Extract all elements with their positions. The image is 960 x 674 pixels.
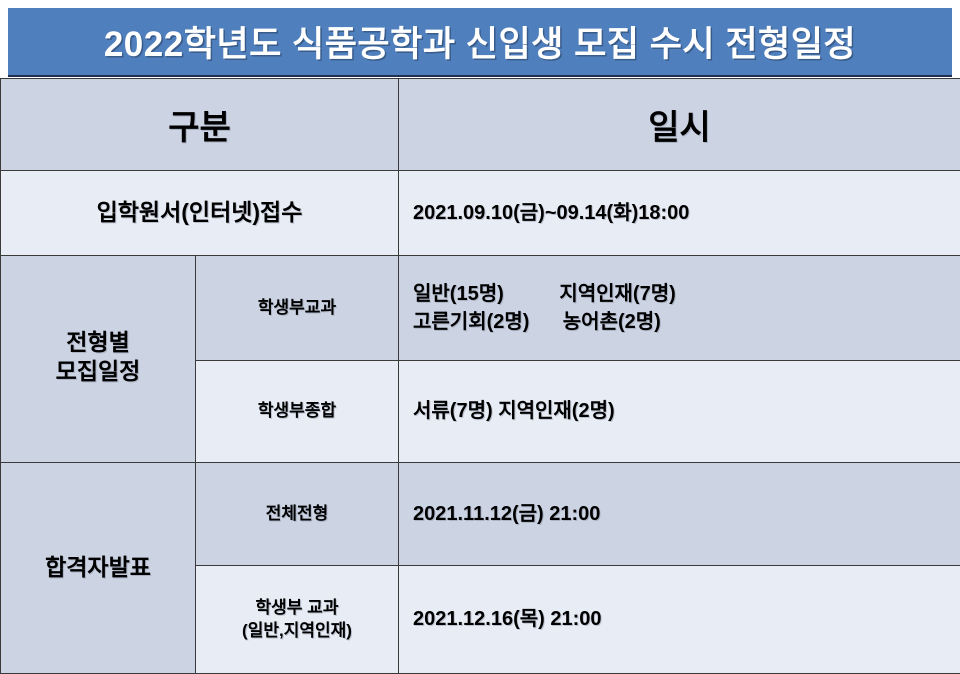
row-value-school-record-comprehensive: 서류(7명) 지역인재(2명) [399, 361, 960, 463]
value-line-2: 고른기회(2명) 농어촌(2명) [413, 308, 661, 336]
category-label-line2: 모집일정 [56, 357, 141, 386]
value-line: 2021.11.12(금) 21:00 [413, 501, 600, 528]
value-line: 2021.12.16(목) 21:00 [413, 606, 602, 633]
value-line: 2021.09.10(금)~09.14(화)18:00 [413, 200, 689, 227]
header-label-category: 구분 [168, 100, 231, 149]
row-subcategory-all-types: 전체전형 [196, 463, 399, 566]
header-cell-datetime: 일시 [399, 79, 960, 171]
poster-title-banner: 2022학년도 식품공학과 신입생 모집 수시 전형일정 [8, 8, 952, 77]
table-header-row: 구분 일시 [1, 79, 960, 171]
table-row: 전형별 모집일정 학생부교과 일반(15명) 지역인재(7명) 고른기회(2명)… [1, 256, 960, 361]
header-cell-category: 구분 [1, 79, 399, 171]
value-line: 서류(7명) 지역인재(2명) [413, 398, 615, 425]
subcategory-label: 전체전형 [266, 503, 329, 525]
subcategory-label: 학생부종합 [258, 400, 336, 422]
row-category-recruit-schedule: 전형별 모집일정 [1, 256, 196, 463]
value-line-1: 일반(15명) 지역인재(7명) [413, 280, 676, 308]
header-label-datetime: 일시 [648, 100, 711, 149]
subcategory-label: 학생부교과 [258, 297, 336, 319]
subcategory-label-line2: (일반,지역인재) [242, 620, 352, 642]
row-subcategory-school-record-subject-general: 학생부 교과 (일반,지역인재) [196, 566, 399, 674]
row-value-school-record-subject-general: 2021.12.16(목) 21:00 [399, 566, 960, 674]
row-category-result-announcement: 합격자발표 [1, 463, 196, 674]
table-row: 합격자발표 전체전형 2021.11.12(금) 21:00 [1, 463, 960, 566]
row-subcategory-school-record-subject: 학생부교과 [196, 256, 399, 361]
row-value-all-types: 2021.11.12(금) 21:00 [399, 463, 960, 566]
table-row: 입학원서(인터넷)접수 2021.09.10(금)~09.14(화)18:00 [1, 171, 960, 256]
admission-schedule-table: 구분 일시 입학원서(인터넷)접수 2021 [0, 78, 960, 674]
row-value-school-record-subject: 일반(15명) 지역인재(7명) 고른기회(2명) 농어촌(2명) [399, 256, 960, 361]
page-title: 2022학년도 식품공학과 신입생 모집 수시 전형일정 [104, 16, 856, 67]
schedule-poster: 2022학년도 식품공학과 신입생 모집 수시 전형일정 구분 일시 [0, 0, 960, 674]
row-category-application: 입학원서(인터넷)접수 [1, 171, 399, 256]
category-label: 입학원서(인터넷)접수 [97, 198, 303, 227]
row-subcategory-school-record-comprehensive: 학생부종합 [196, 361, 399, 463]
subcategory-label-line1: 학생부 교과 [256, 597, 339, 619]
row-value-application: 2021.09.10(금)~09.14(화)18:00 [399, 171, 960, 256]
category-label-line1: 전형별 [66, 328, 129, 357]
category-label: 합격자발표 [45, 553, 151, 582]
